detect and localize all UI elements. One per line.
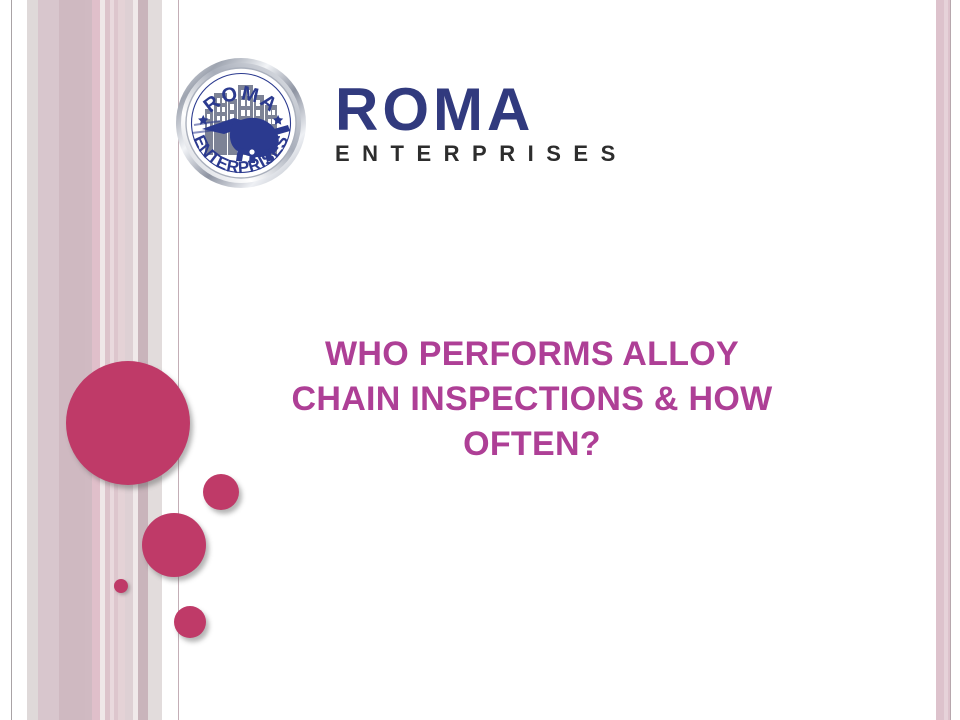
- circle-dot: [114, 579, 128, 593]
- stripe-segment: [125, 0, 133, 720]
- right-stripe-highlight: [944, 0, 948, 720]
- slide-title-line-3: OFTEN?: [216, 422, 848, 467]
- wordmark-roma: ROMA: [335, 81, 597, 138]
- stripe-segment: [148, 0, 162, 720]
- stripe-segment: [85, 0, 92, 720]
- stripe-segment: [27, 0, 38, 720]
- circle-large: [66, 361, 190, 485]
- logo-wordmark: ROMA ENTERPRISES: [335, 81, 597, 166]
- stripe-segment: [38, 0, 59, 720]
- slide-title-line-1: WHO PERFORMS ALLOY: [216, 332, 848, 377]
- slide-title-line-2: CHAIN INSPECTIONS & HOW: [216, 377, 848, 422]
- stripe-segment: [118, 0, 125, 720]
- rule-line-left: [11, 0, 12, 720]
- stripe-segment: [59, 0, 85, 720]
- roma-enterprises-logo: ROMA ENTERPRISES ROMA ENTERPRISES: [172, 55, 602, 190]
- circle-small-upper: [203, 474, 239, 510]
- left-stripe-band: [0, 0, 190, 720]
- circle-medium: [142, 513, 206, 577]
- stripe-segment: [92, 0, 100, 720]
- presentation-slide: ROMA ENTERPRISES ROMA ENTERPRISES WHO PE: [0, 0, 960, 720]
- circle-small-lower: [174, 606, 206, 638]
- rule-line-right: [950, 0, 951, 720]
- stripe-segment: [138, 0, 148, 720]
- roma-enterprises-circular-badge-icon: ROMA ENTERPRISES: [172, 55, 310, 190]
- slide-title: WHO PERFORMS ALLOY CHAIN INSPECTIONS & H…: [216, 332, 848, 468]
- wordmark-enterprises: ENTERPRISES: [335, 142, 597, 166]
